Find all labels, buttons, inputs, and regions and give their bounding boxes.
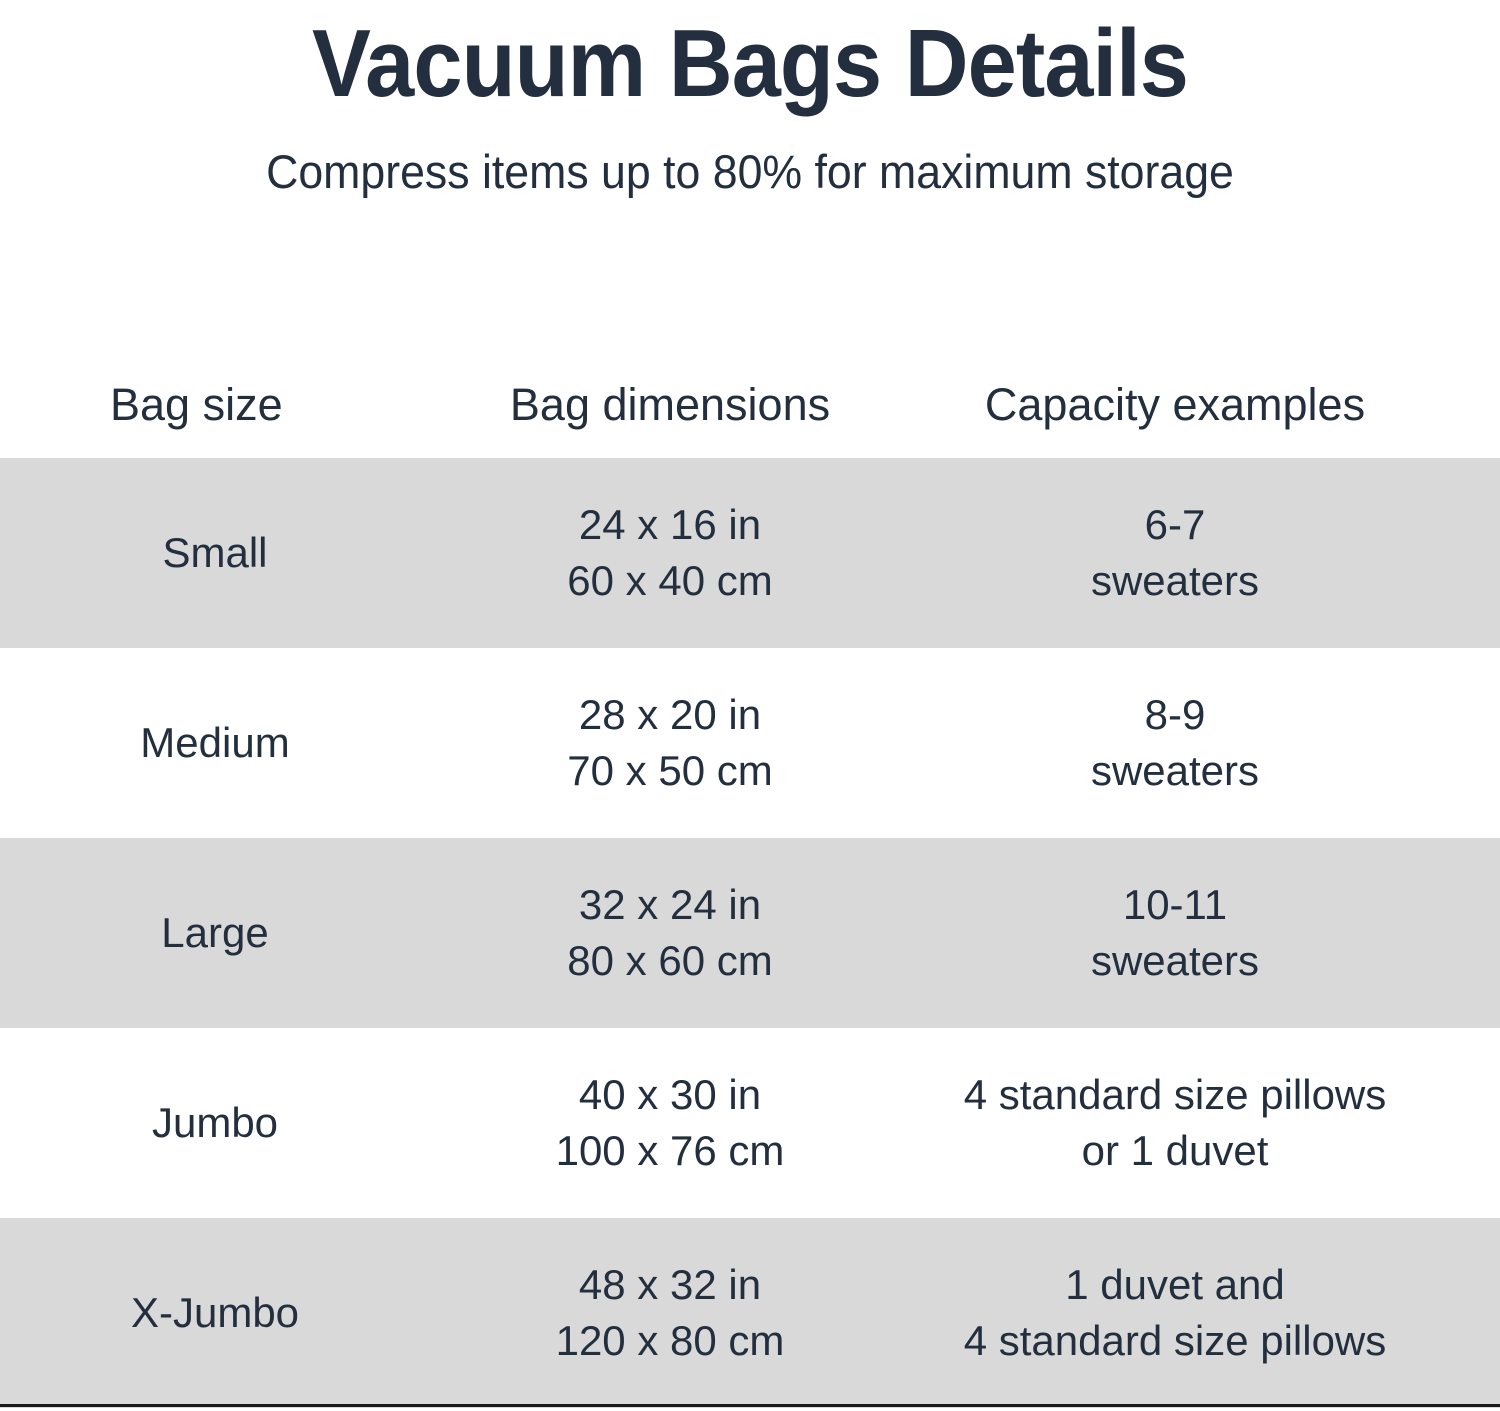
cell-bag-dimensions: 24 x 16 in 60 x 40 cm xyxy=(430,458,910,648)
cell-capacity-examples: 1 duvet and 4 standard size pillows xyxy=(910,1218,1500,1408)
capacity-line-2: 4 standard size pillows xyxy=(910,1313,1440,1369)
cell-capacity-examples: 6-7 sweaters xyxy=(910,458,1500,648)
cell-bag-dimensions: 48 x 32 in 120 x 80 cm xyxy=(430,1218,910,1408)
column-header-capacity-examples: Capacity examples xyxy=(910,352,1500,458)
table-row: Jumbo 40 x 30 in 100 x 76 cm 4 standard … xyxy=(0,1028,1500,1218)
table-row: Small 24 x 16 in 60 x 40 cm 6-7 sweaters xyxy=(0,458,1500,648)
table-row: Large 32 x 24 in 80 x 60 cm 10-11 sweate… xyxy=(0,838,1500,1028)
dimensions-inches: 32 x 24 in xyxy=(430,877,910,933)
capacity-line-2: sweaters xyxy=(910,553,1440,609)
capacity-line-1: 10-11 xyxy=(910,877,1440,933)
table-body: Small 24 x 16 in 60 x 40 cm 6-7 sweaters… xyxy=(0,458,1500,1408)
cell-bag-size: Medium xyxy=(0,648,430,838)
cell-bag-size: Jumbo xyxy=(0,1028,430,1218)
dimensions-centimeters: 70 x 50 cm xyxy=(430,743,910,799)
capacity-line-2: sweaters xyxy=(910,743,1440,799)
capacity-line-1: 6-7 xyxy=(910,497,1440,553)
column-header-bag-dimensions: Bag dimensions xyxy=(430,352,910,458)
table-header: Bag size Bag dimensions Capacity example… xyxy=(0,352,1500,458)
capacity-line-2: sweaters xyxy=(910,933,1440,989)
cell-capacity-examples: 4 standard size pillows or 1 duvet xyxy=(910,1028,1500,1218)
dimensions-inches: 48 x 32 in xyxy=(430,1257,910,1313)
dimensions-centimeters: 80 x 60 cm xyxy=(430,933,910,989)
table-header-row: Bag size Bag dimensions Capacity example… xyxy=(0,352,1500,458)
capacity-line-1: 1 duvet and xyxy=(910,1257,1440,1313)
dimensions-centimeters: 60 x 40 cm xyxy=(430,553,910,609)
cell-capacity-examples: 8-9 sweaters xyxy=(910,648,1500,838)
bag-specs-table: Bag size Bag dimensions Capacity example… xyxy=(0,352,1500,1408)
cell-bag-dimensions: 28 x 20 in 70 x 50 cm xyxy=(430,648,910,838)
vacuum-bags-details-page: Vacuum Bags Details Compress items up to… xyxy=(0,0,1500,1411)
capacity-line-1: 4 standard size pillows xyxy=(910,1067,1440,1123)
cell-bag-size: Large xyxy=(0,838,430,1028)
dimensions-centimeters: 100 x 76 cm xyxy=(430,1123,910,1179)
column-header-bag-size: Bag size xyxy=(0,352,430,458)
page-subtitle: Compress items up to 80% for maximum sto… xyxy=(38,144,1463,200)
cell-capacity-examples: 10-11 sweaters xyxy=(910,838,1500,1028)
page-title: Vacuum Bags Details xyxy=(60,8,1440,120)
capacity-line-1: 8-9 xyxy=(910,687,1440,743)
cell-bag-size: Small xyxy=(0,458,430,648)
capacity-line-2: or 1 duvet xyxy=(910,1123,1440,1179)
cell-bag-dimensions: 32 x 24 in 80 x 60 cm xyxy=(430,838,910,1028)
dimensions-centimeters: 120 x 80 cm xyxy=(430,1313,910,1369)
page-header: Vacuum Bags Details Compress items up to… xyxy=(0,0,1500,200)
cell-bag-dimensions: 40 x 30 in 100 x 76 cm xyxy=(430,1028,910,1218)
dimensions-inches: 40 x 30 in xyxy=(430,1067,910,1123)
table-row: Medium 28 x 20 in 70 x 50 cm 8-9 sweater… xyxy=(0,648,1500,838)
dimensions-inches: 24 x 16 in xyxy=(430,497,910,553)
table-row: X-Jumbo 48 x 32 in 120 x 80 cm 1 duvet a… xyxy=(0,1218,1500,1408)
dimensions-inches: 28 x 20 in xyxy=(430,687,910,743)
bottom-rule xyxy=(0,1404,1500,1407)
cell-bag-size: X-Jumbo xyxy=(0,1218,430,1408)
